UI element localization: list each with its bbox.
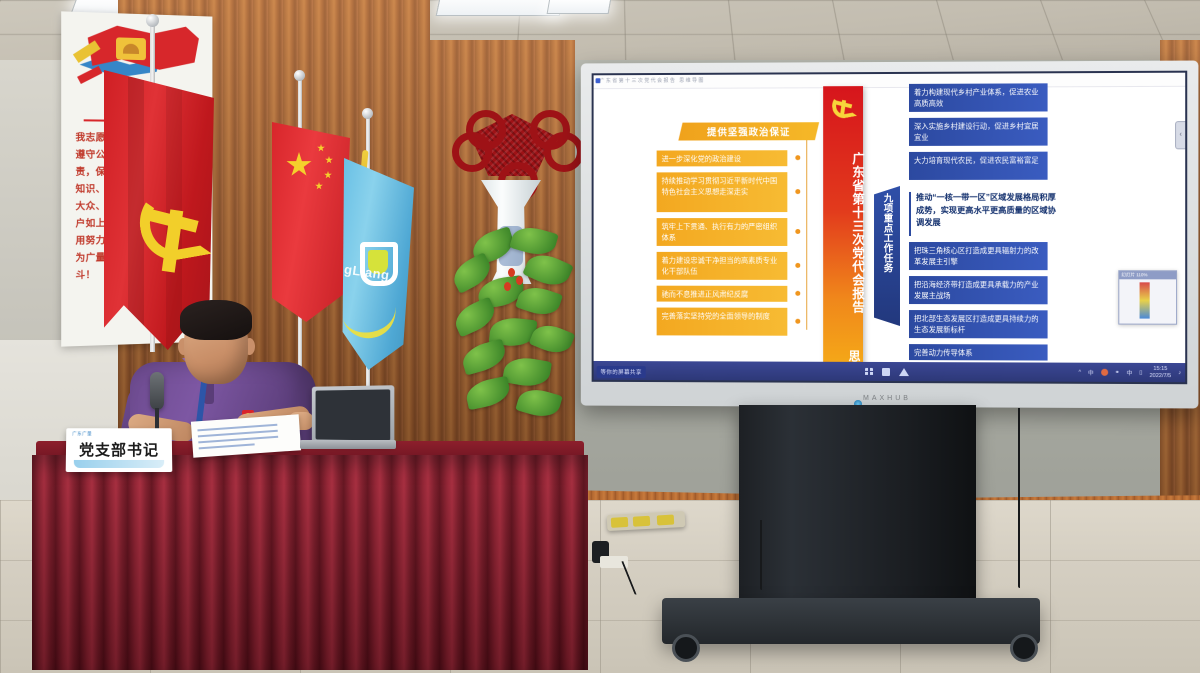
ceiling-light-panel [547,0,612,14]
plant-berry [508,268,515,277]
presenter-hair [180,300,252,340]
blue-group-label-text: 九项重点工作任务 [882,193,893,273]
power-cable [760,520,762,590]
orange-node-dot [795,155,800,160]
orange-item: 驰而不息推进正风肃纪反腐 [657,286,788,302]
nameplate-org: 广东广量 [72,431,92,437]
taskbar[interactable]: 等你的屏幕共享 ^ 中 ⚭ 中 ▯ 15:15 2022/7/5 [594,361,1186,382]
preview-panel-body [1119,279,1176,323]
ime-cn-icon[interactable]: 中 [1127,368,1133,376]
share-icon[interactable] [899,368,909,376]
orange-item: 完善落实坚持党的全面领导的制度 [657,308,788,336]
flagpole-knob [294,70,305,81]
orange-item: 进一步深化党的政治建设 [657,150,788,166]
nameplate-role: 党支部书记 [66,439,172,460]
screen-share-indicator[interactable]: 等你的屏幕共享 [597,366,646,378]
flag-star-icon [324,171,332,179]
china-national-flag [272,122,350,322]
banner-title: 广东省第十三次党代会报告 [823,118,863,348]
taskbar-tray[interactable]: ^ 中 ⚭ 中 ▯ 15:15 2022/7/5 ♪ [1078,366,1181,379]
nameplate-wave-graphic [74,460,164,468]
blue-item: 把北部生态发展区打造成更具持续力的生态发展新标杆 [909,310,1048,338]
desk-nameplate: 广东广量 党支部书记 [66,428,173,472]
hammer-and-sickle-icon [138,186,204,278]
potted-plant [448,226,580,426]
orange-node-dot [795,291,800,296]
ceiling-light-panel [436,0,565,16]
action-center-icon[interactable]: ♪ [1178,370,1181,376]
taskbar-center-icons[interactable] [865,367,909,375]
ime-icon[interactable]: 中 [1088,368,1094,376]
chevron-up-icon[interactable]: ^ [1078,369,1081,375]
laptop-keyboard[interactable] [300,440,396,449]
grid-icon[interactable] [865,367,873,375]
meeting-room-scene: 广量誓词 我志愿加入广量大家庭， 遵守公司章程，履行员工职 责，保守公司秘密，努… [0,0,1200,673]
blue-item: 大力培育现代农民，促进农民富裕富足 [909,152,1048,180]
slide-topbar: 广东省第十三次党代会报告 思维导图 [594,73,1186,89]
flag-star-icon [317,144,325,152]
company-logo-icon [116,37,146,60]
hammer-and-sickle-icon [831,92,855,116]
blue-item: 深入实施乡村建设行动，促进乡村宜居宜业 [909,117,1048,145]
taskbar-clock[interactable]: 15:15 2022/7/5 [1150,366,1172,379]
display-stand-column [739,405,976,600]
orange-node-dot [795,263,800,268]
battery-icon[interactable]: ▯ [1139,369,1142,375]
orange-item: 着力建设忠诚干净担当的高素质专业化干部队伍 [657,252,788,280]
table-skirt [32,455,588,670]
orange-node-dot [795,189,800,194]
blue-item: 把沿海经济带打造成更具承载力的产业发展主战场 [909,276,1048,304]
flag-star-icon [286,152,312,178]
slide-breadcrumb: 广东省第十三次党代会报告 思维导图 [599,77,704,84]
orange-item: 持续推动学习贯彻习近平新时代中国特色社会主义思想走深走实 [657,172,788,212]
orange-node-dot [795,319,800,324]
flag-star-icon [325,156,333,164]
stand-caster [1010,634,1038,662]
company-flag-swoosh [341,303,400,344]
plant-berry [516,276,523,285]
flag-star-icon [315,182,323,190]
side-collapse-tab[interactable]: ‹ [1175,121,1186,149]
display-screen[interactable]: 广东省第十三次党代会报告 思维导图 提供坚强政治保证 进一步深化党的政治建设 持… [592,71,1188,385]
company-flag: gLiang [338,158,414,370]
laptop-screen [312,385,395,445]
maxhub-interactive-display[interactable]: 广东省第十三次党代会报告 思维导图 提供坚强政治保证 进一步深化党的政治建设 持… [581,61,1199,409]
printed-documents [191,414,301,457]
blue-highlight-text: 推动“一核一带一区”区域发展格局积厚成势，实现更高水平更高质量的区域协调发展 [909,192,1058,236]
orange-connector [806,140,807,330]
window-icon[interactable] [882,367,890,375]
power-cable [1018,408,1020,588]
display-brand-label: MAXHUB [581,394,1199,404]
display-stand-base [662,598,1040,644]
blue-item: 完善动力传导体系 [909,344,1048,360]
blue-item: 着力构建现代乡村产业体系，促进农业高质高效 [909,83,1048,112]
notification-icon[interactable] [1101,369,1108,376]
blue-group-label: 九项重点工作任务 [874,186,900,326]
presentation-slide: 广东省第十三次党代会报告 思维导图 提供坚强政治保证 进一步深化党的政治建设 持… [594,73,1186,383]
clock-date: 2022/7/5 [1150,372,1172,379]
flagpole-knob [362,108,373,119]
slide-preview-panel[interactable]: 幻灯片 110% [1118,270,1177,324]
orange-item: 筑牢上下贯通、执行有力的严密组织体系 [657,218,788,246]
network-icon[interactable]: ⚭ [1115,369,1120,375]
stand-caster [672,634,700,662]
microphone [150,372,164,410]
preview-thumbnail [1140,282,1150,318]
preview-panel-title: 幻灯片 110% [1119,271,1176,279]
plant-berry [504,282,511,291]
orange-node-dot [795,229,800,234]
blue-item: 把珠三角核心区打造成更具辐射力的改革发展主引擎 [909,242,1048,270]
flagpole-knob [146,14,159,27]
orange-group-header: 提供坚强政治保证 [678,122,819,140]
center-red-banner: 广东省第十三次党代会报告 思维 [823,86,863,381]
